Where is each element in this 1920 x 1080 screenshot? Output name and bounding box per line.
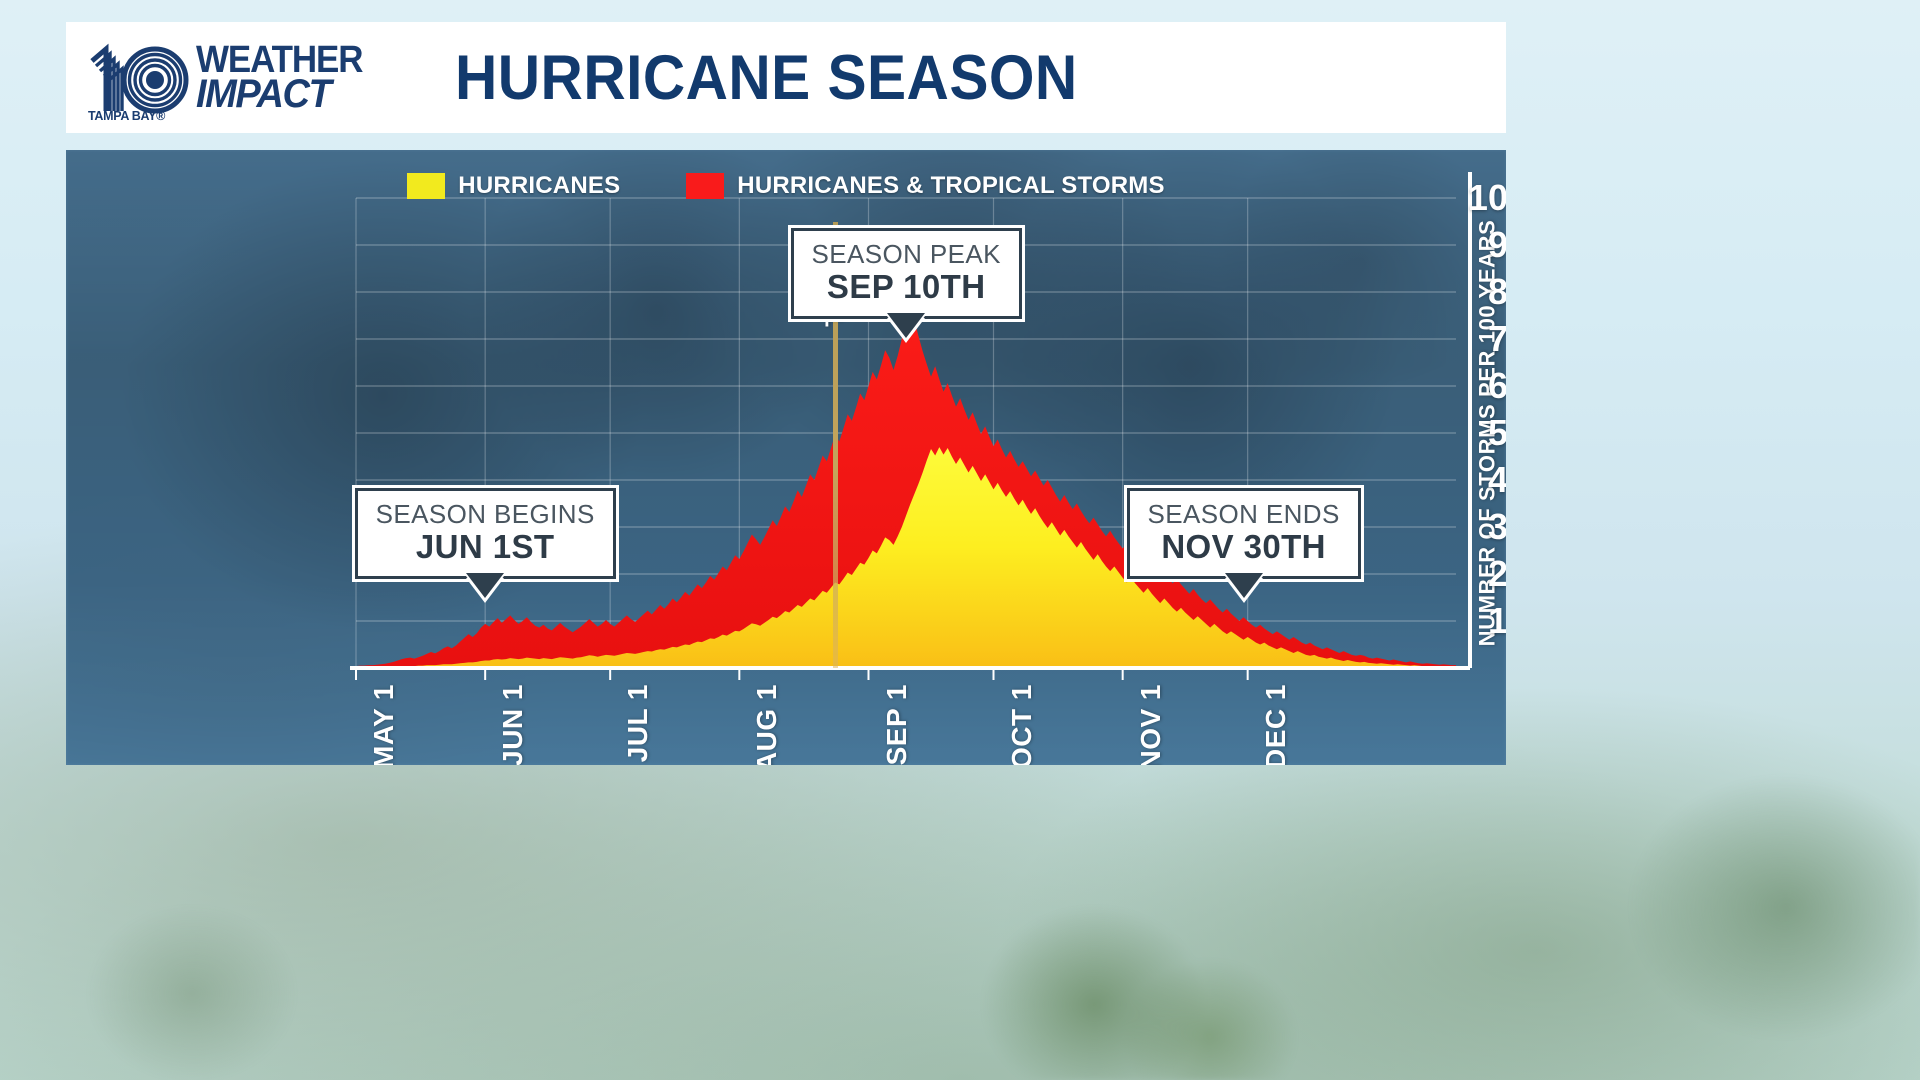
callout-season-peak-line1: SEASON PEAK: [812, 240, 1001, 269]
graphic-stage: TAMPA BAY® WEATHER IMPACT HURRICANE SEAS…: [0, 0, 1920, 1080]
callout-season-ends: SEASON ENDS NOV 30TH: [1127, 488, 1361, 579]
callout-season-begins-line2: JUN 1ST: [376, 529, 595, 565]
x-tick-label: OCT 1: [1006, 684, 1038, 765]
callout-pointer-icon: [887, 316, 925, 341]
y-tick-label: 30: [1488, 506, 1506, 548]
callout-season-begins-line1: SEASON BEGINS: [376, 500, 595, 529]
page-title: HURRICANE SEASON: [455, 42, 1078, 114]
station-logo: TAMPA BAY® WEATHER IMPACT: [74, 39, 377, 117]
callout-season-peak-line2: SEP 10TH: [812, 269, 1001, 305]
x-tick-label: NOV 1: [1135, 684, 1167, 765]
logo-impact-text: IMPACT: [196, 75, 368, 113]
logo-wordmark: WEATHER IMPACT: [196, 42, 377, 112]
y-tick-label: 90: [1488, 224, 1506, 266]
y-tick-label: 70: [1488, 318, 1506, 360]
y-tick-label: 20: [1488, 553, 1506, 595]
callout-pointer-icon: [1225, 576, 1263, 601]
y-tick-label: 50: [1488, 412, 1506, 454]
callout-season-peak: SEASON PEAK SEP 10TH: [791, 228, 1022, 319]
y-tick-label: 80: [1488, 271, 1506, 313]
x-tick-label: MAY 1: [368, 684, 400, 765]
y-tick-label: 60: [1488, 365, 1506, 407]
x-tick-label: SEP 1: [881, 684, 913, 765]
logo-market-label: TAMPA BAY®: [88, 109, 165, 123]
x-tick-label: JUL 1: [622, 684, 654, 762]
callout-season-ends-line2: NOV 30TH: [1148, 529, 1340, 565]
callout-season-begins: SEASON BEGINS JUN 1ST: [355, 488, 616, 579]
x-tick-label: AUG 1: [751, 684, 783, 765]
chart-panel: HURRICANES HURRICANES & TROPICAL STORMS …: [66, 150, 1506, 765]
callout-pointer-icon: [466, 576, 504, 601]
x-tick-label: JUN 1: [497, 684, 529, 765]
header-bar: TAMPA BAY® WEATHER IMPACT HURRICANE SEAS…: [66, 22, 1506, 133]
y-axis: 0102030405060708090100: [1470, 198, 1506, 668]
logo-10-icon: TAMPA BAY®: [82, 39, 194, 117]
y-tick-label: 40: [1488, 459, 1506, 501]
y-tick-label: 10: [1488, 600, 1506, 642]
x-tick-label: DEC 1: [1260, 684, 1292, 765]
y-tick-label: 100: [1468, 177, 1506, 219]
callout-season-ends-line1: SEASON ENDS: [1148, 500, 1340, 529]
